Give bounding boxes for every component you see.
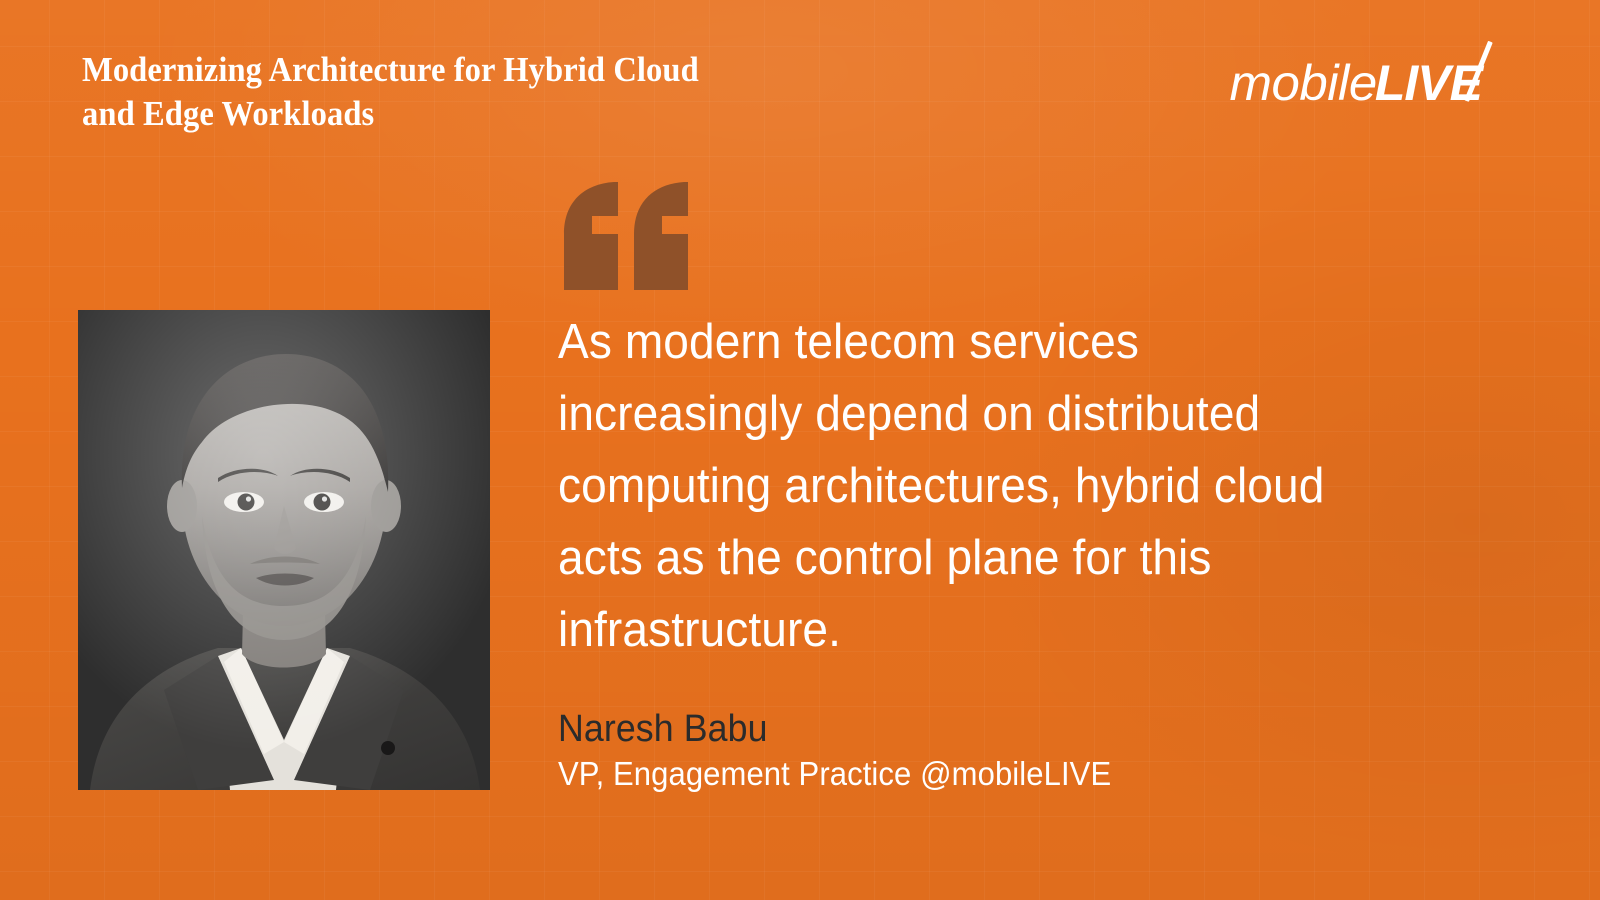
mobilelive-logo[interactable]: mobile LIVE: [1231, 52, 1482, 114]
speaker-name: Naresh Babu: [558, 706, 1404, 752]
page-title: Modernizing Architecture for Hybrid Clou…: [82, 48, 882, 136]
attribution: Naresh Babu VP, Engagement Practice @mob…: [558, 706, 1458, 796]
quote-text: As modern telecom services increasingly …: [558, 306, 1376, 666]
logo-live-group: LIVE: [1375, 58, 1482, 108]
logo-text-live: LIVE: [1375, 55, 1482, 111]
logo-text-mobile: mobile: [1229, 58, 1376, 108]
quote-block: As modern telecom services increasingly …: [558, 182, 1458, 796]
quote-mark-icon: [562, 182, 1458, 294]
portrait-photo: [78, 310, 490, 790]
speaker-role: VP, Engagement Practice @mobileLIVE: [558, 752, 1404, 796]
speaker-portrait: [78, 310, 490, 790]
quote-card: Modernizing Architecture for Hybrid Clou…: [0, 0, 1600, 900]
